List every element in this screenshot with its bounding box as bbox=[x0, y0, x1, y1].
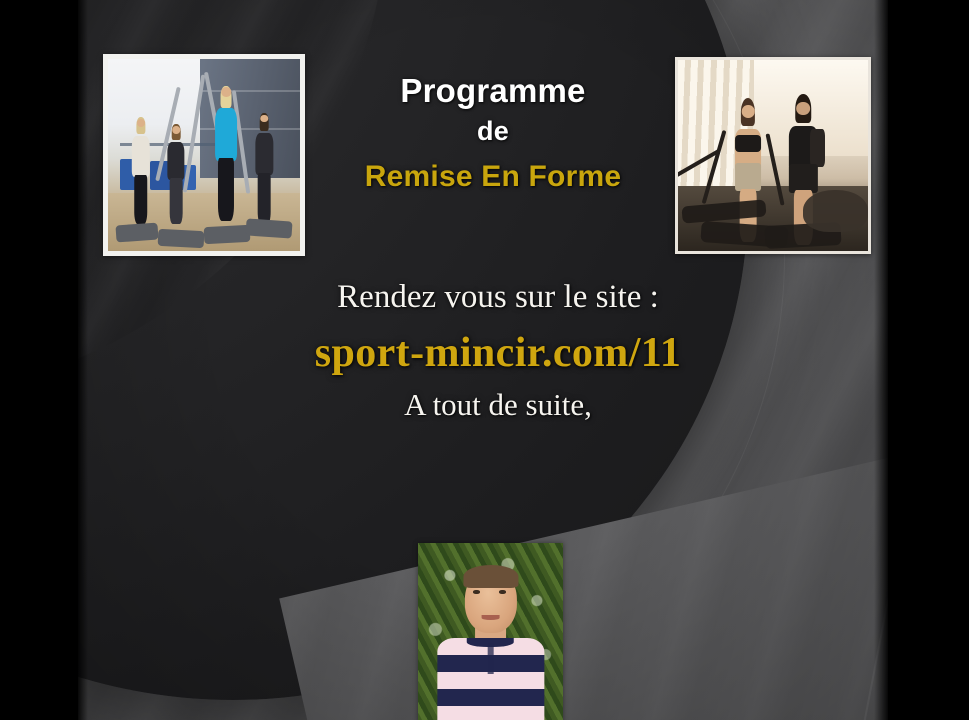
person-shorts bbox=[735, 163, 761, 191]
elliptical-pedal-arm bbox=[204, 225, 251, 245]
presenter-portrait-photo bbox=[418, 543, 563, 720]
gym-right-scene bbox=[678, 60, 868, 251]
gym-person bbox=[162, 124, 191, 224]
signoff-text: A tout de suite, bbox=[218, 386, 778, 423]
letterbox-feather-left bbox=[78, 0, 88, 720]
presenter-mouth bbox=[481, 615, 500, 620]
presenter-hair bbox=[463, 565, 518, 588]
presenter-scene bbox=[418, 543, 563, 720]
slide-canvas: Programme de Remise En Forme Rendez vous… bbox=[78, 0, 888, 720]
presenter-polo-placket bbox=[488, 643, 493, 673]
person-legs bbox=[258, 173, 271, 224]
gym-left-photo-inner bbox=[108, 59, 300, 251]
gym-left-photo bbox=[103, 54, 305, 256]
person-torso bbox=[215, 108, 237, 161]
letterbox-bar-right bbox=[888, 0, 969, 720]
gym-person bbox=[125, 117, 156, 225]
elliptical-pedal-arm bbox=[115, 223, 158, 243]
person-shorts bbox=[789, 164, 817, 193]
gym-person bbox=[250, 113, 279, 224]
elliptical-pedal-arm bbox=[157, 229, 204, 249]
title-line-de: de bbox=[308, 116, 678, 147]
person-sports-bra bbox=[735, 135, 761, 152]
gym-right-photo bbox=[675, 57, 871, 254]
person-head bbox=[137, 119, 145, 127]
website-url-text: sport-mincir.com/11 bbox=[218, 328, 778, 378]
title-block: Programme de Remise En Forme bbox=[308, 72, 678, 195]
person-legs bbox=[134, 175, 148, 224]
title-line-remise-en-forme: Remise En Forme bbox=[308, 160, 678, 194]
letterbox-bar-left bbox=[0, 0, 78, 720]
gym-left-scene bbox=[108, 59, 300, 251]
person-torso bbox=[256, 133, 273, 175]
gym-right-photo-inner bbox=[678, 60, 868, 251]
person-head bbox=[797, 102, 811, 116]
video-frame: Programme de Remise En Forme Rendez vous… bbox=[0, 0, 969, 720]
person-backpack bbox=[810, 129, 826, 167]
elliptical-machine bbox=[803, 190, 868, 232]
person-legs bbox=[170, 178, 183, 224]
gym-person bbox=[208, 86, 244, 224]
presenter-eye-right bbox=[499, 590, 506, 594]
person-head bbox=[742, 105, 755, 118]
presenter-portrait-inner bbox=[418, 543, 563, 720]
presenter-eye-left bbox=[473, 590, 480, 594]
person-legs bbox=[218, 158, 234, 222]
presenter-striped-polo bbox=[437, 638, 544, 720]
person-torso bbox=[131, 136, 149, 177]
letterbox-feather-right bbox=[874, 0, 888, 720]
title-line-programme: Programme bbox=[308, 72, 678, 110]
body-block: Rendez vous sur le site : sport-mincir.c… bbox=[218, 278, 778, 423]
call-to-action-text: Rendez vous sur le site : bbox=[218, 278, 778, 318]
person-torso bbox=[168, 142, 185, 180]
